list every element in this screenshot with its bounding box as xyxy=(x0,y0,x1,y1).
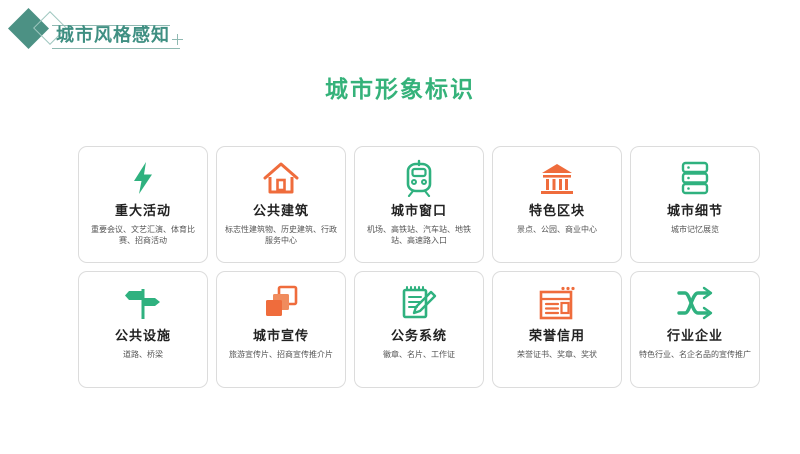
card-title: 城市细节 xyxy=(667,203,723,219)
card-description: 旅游宣传片、招商宣传推介片 xyxy=(225,349,337,360)
header-badge-label: 城市风格感知 xyxy=(56,22,170,48)
lightning-bolt-icon xyxy=(123,158,163,198)
card-title: 特色区块 xyxy=(529,203,585,219)
card-description: 道路、桥梁 xyxy=(87,349,199,360)
card-title: 公共设施 xyxy=(115,328,171,344)
shuffle-arrows-icon xyxy=(675,283,715,323)
card-description: 城市记忆展览 xyxy=(639,224,751,235)
card-description: 重要会议、文艺汇演、体育比赛、招商活动 xyxy=(87,224,199,246)
card-row: 公共设施 道路、桥梁 城市宣传 旅游宣传片、招商宣传推介片 xyxy=(78,271,768,388)
card-title: 公共建筑 xyxy=(253,203,309,219)
stacked-squares-icon xyxy=(261,283,301,323)
card-city-details[interactable]: 城市细节 城市记忆展览 xyxy=(630,146,760,263)
card-major-events[interactable]: 重大活动 重要会议、文艺汇演、体育比赛、招商活动 xyxy=(78,146,208,263)
notepad-pencil-icon xyxy=(399,283,439,323)
card-public-buildings[interactable]: 公共建筑 标志性建筑物、历史建筑、行政服务中心 xyxy=(216,146,346,263)
card-row: 重大活动 重要会议、文艺汇演、体育比赛、招商活动 公共建筑 标志性建筑物、历史建… xyxy=(78,146,768,263)
card-title: 行业企业 xyxy=(667,328,723,344)
card-featured-districts[interactable]: 特色区块 景点、公园、商业中心 xyxy=(492,146,622,263)
card-description: 荣誉证书、奖章、奖状 xyxy=(501,349,613,360)
card-title: 城市宣传 xyxy=(253,328,309,344)
bank-icon xyxy=(537,158,577,198)
card-title: 城市窗口 xyxy=(391,203,447,219)
card-title: 荣誉信用 xyxy=(529,328,585,344)
server-stack-icon xyxy=(675,158,715,198)
card-city-gateway[interactable]: 城市窗口 机场、高铁站、汽车站、地铁站、高速路入口 xyxy=(354,146,484,263)
card-description: 机场、高铁站、汽车站、地铁站、高速路入口 xyxy=(363,224,475,246)
card-description: 特色行业、名企名品的宣传推广 xyxy=(639,349,751,360)
header-rule-bottom xyxy=(52,48,180,49)
slide-header: 城市风格感知 xyxy=(0,0,800,70)
certificate-window-icon xyxy=(537,283,577,323)
plus-icon xyxy=(172,34,183,45)
signpost-icon xyxy=(123,283,163,323)
page-title: 城市形象标识 xyxy=(0,70,800,104)
card-government-system[interactable]: 公务系统 徽章、名片、工作证 xyxy=(354,271,484,388)
card-city-promotion[interactable]: 城市宣传 旅游宣传片、招商宣传推介片 xyxy=(216,271,346,388)
house-icon xyxy=(261,158,301,198)
card-industry-enterprises[interactable]: 行业企业 特色行业、名企名品的宣传推广 xyxy=(630,271,760,388)
card-public-facilities[interactable]: 公共设施 道路、桥梁 xyxy=(78,271,208,388)
train-icon xyxy=(399,158,439,198)
card-honor-credit[interactable]: 荣誉信用 荣誉证书、奖章、奖状 xyxy=(492,271,622,388)
card-grid: 重大活动 重要会议、文艺汇演、体育比赛、招商活动 公共建筑 标志性建筑物、历史建… xyxy=(78,146,768,388)
card-title: 重大活动 xyxy=(115,203,171,219)
card-title: 公务系统 xyxy=(391,328,447,344)
card-description: 徽章、名片、工作证 xyxy=(363,349,475,360)
card-description: 标志性建筑物、历史建筑、行政服务中心 xyxy=(225,224,337,246)
card-description: 景点、公园、商业中心 xyxy=(501,224,613,235)
